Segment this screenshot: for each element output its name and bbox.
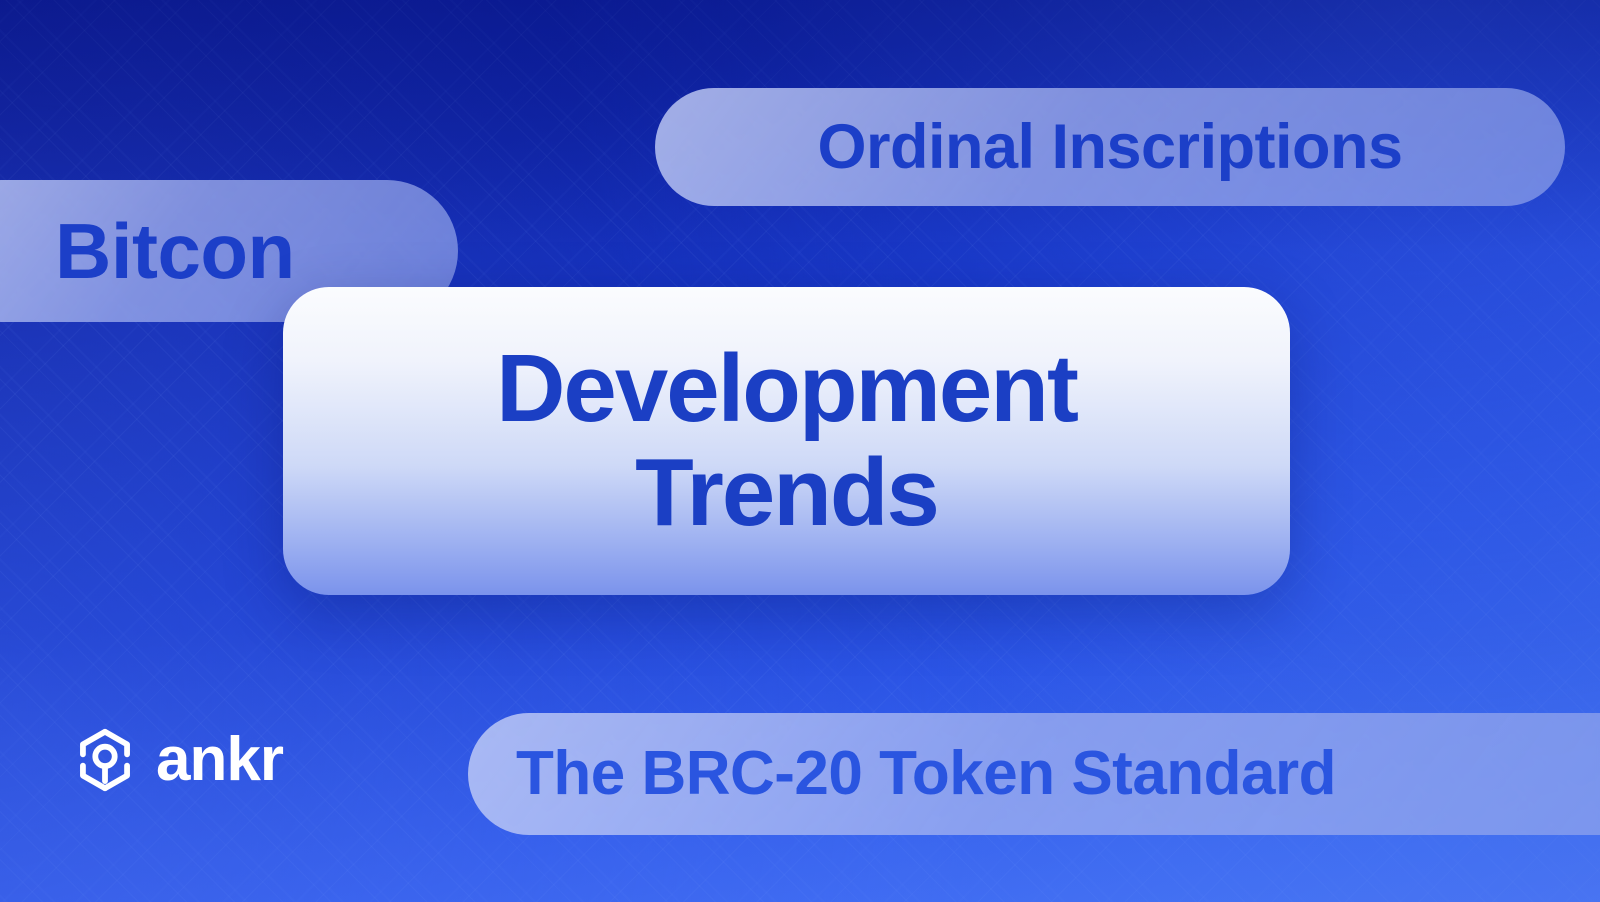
headline-line-1: Development xyxy=(496,337,1077,441)
topic-pill-label: Ordinal Inscriptions xyxy=(817,116,1402,179)
topic-pill-label: The BRC-20 Token Standard xyxy=(516,743,1336,805)
ankr-logo-lockup: ankr xyxy=(72,727,283,793)
topic-pill-label: Bitcon xyxy=(55,212,295,290)
ankr-wordmark: ankr xyxy=(156,729,283,791)
banner-canvas: Ordinal Inscriptions Bitcon Development … xyxy=(0,0,1600,902)
ankr-hexagon-icon xyxy=(72,727,138,793)
headline-card: Development Trends xyxy=(283,287,1290,595)
headline-line-2: Trends xyxy=(635,441,938,545)
topic-pill-brc-20-token-standard: The BRC-20 Token Standard xyxy=(468,713,1600,835)
topic-pill-ordinal-inscriptions: Ordinal Inscriptions xyxy=(655,88,1565,206)
